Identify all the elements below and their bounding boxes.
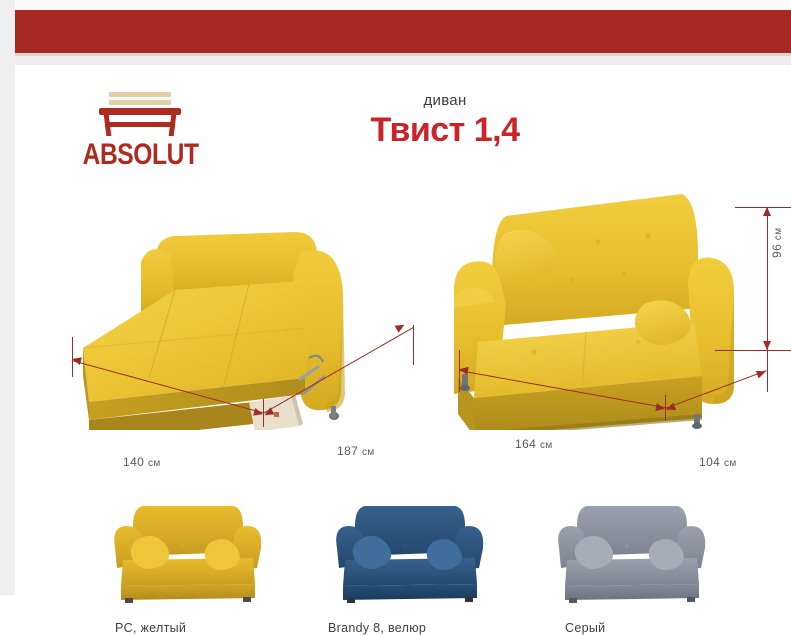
- swatch-sofa-blue[interactable]: [315, 500, 505, 605]
- dim-tick-right-187: [413, 325, 414, 365]
- page-left-gutter: [0, 0, 15, 595]
- banner-gap: [15, 56, 791, 65]
- product-category-label: диван: [315, 93, 575, 108]
- sofa-folded-image: [430, 170, 770, 430]
- brand-name: ABSOLUT: [83, 140, 198, 170]
- content-area: ABSOLUT диван Твист 1,4: [15, 65, 791, 595]
- dim-label-187: 187 см: [337, 444, 375, 458]
- bench-seat-rail: [105, 122, 175, 127]
- dim-arrow-164-right: [655, 403, 665, 412]
- dim-arrow-164-left: [458, 365, 468, 374]
- page-background: ABSOLUT диван Твист 1,4: [0, 0, 791, 595]
- dim-tick-right-104: [767, 350, 768, 392]
- dim-extension-bottom-96: [715, 350, 791, 351]
- bench-bar-top: [109, 92, 171, 97]
- dim-line-96: [767, 207, 768, 350]
- brand-logo: ABSOLUT: [70, 92, 210, 170]
- dim-arrow-96-bottom: [763, 341, 771, 350]
- dim-label-96: 96 см: [770, 227, 784, 258]
- red-header-banner: [15, 10, 791, 53]
- swatch-label-yellow: PC, желтый: [115, 621, 186, 635]
- sheet-top-edge: [15, 0, 791, 10]
- bench-back-bars-icon: [109, 92, 171, 105]
- swatch-label-blue: Brandy 8, велюр: [328, 621, 426, 635]
- swatch-sofa-gray[interactable]: [537, 500, 727, 605]
- bench-top-rail: [99, 108, 181, 115]
- swatch-label-gray: Серый: [565, 621, 605, 635]
- bench-frame-icon: [99, 108, 181, 138]
- swatch-sofa-yellow[interactable]: [93, 500, 283, 605]
- sofa-unfolded-image: [53, 180, 413, 430]
- product-title-block: диван Твист 1,4: [315, 93, 575, 150]
- dim-label-164: 164 см: [515, 437, 553, 451]
- dim-arrow-96-top: [763, 207, 771, 216]
- bench-bar-bottom: [109, 100, 171, 105]
- dim-label-104: 104 см: [699, 455, 737, 469]
- product-name-label: Твист 1,4: [315, 111, 575, 150]
- dim-label-140: 140 см: [123, 455, 161, 469]
